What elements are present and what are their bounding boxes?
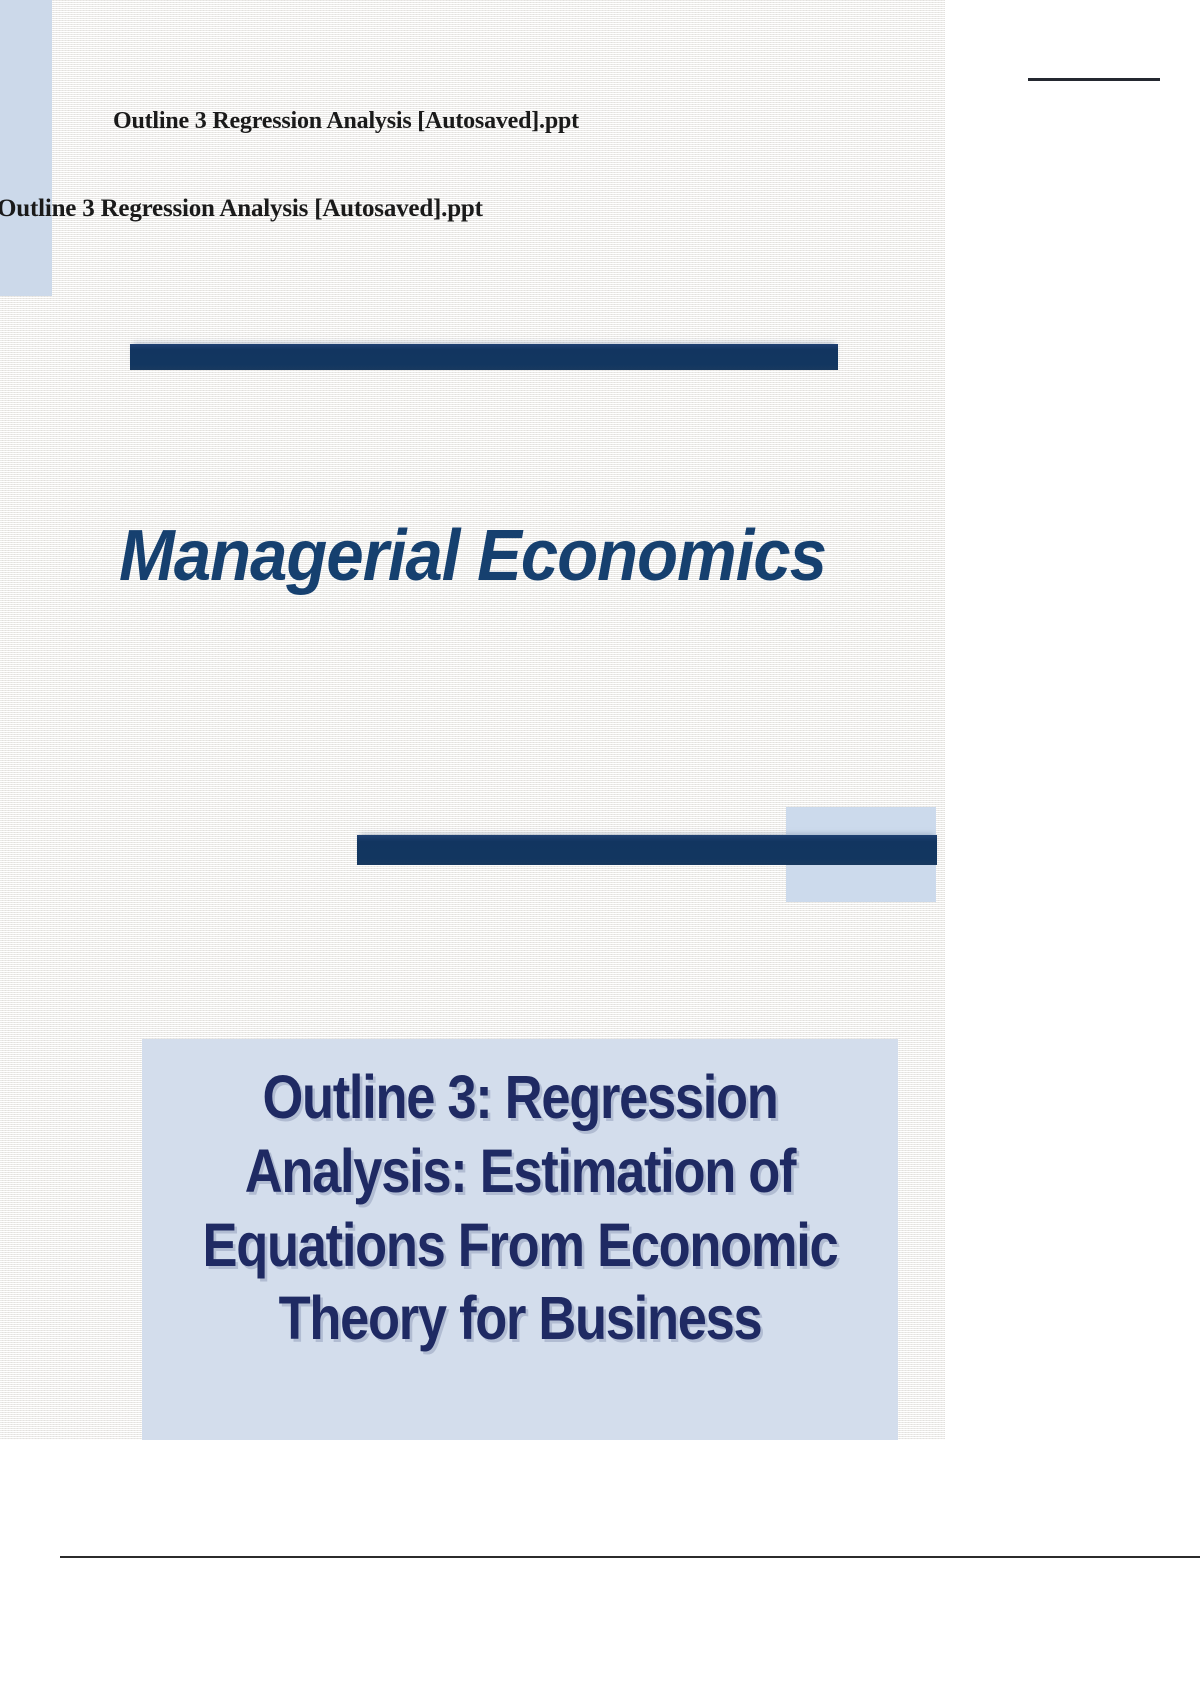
slide-subtitle-box: Outline 3: Regression Analysis: Estimati…: [142, 1039, 898, 1440]
slide-title: Managerial Economics: [33, 520, 912, 592]
left-accent-block: [0, 0, 52, 296]
header-filename-primary: Outline 3 Regression Analysis [Autosaved…: [113, 108, 579, 135]
page-right-margin: [945, 0, 1200, 1440]
navy-accent-bar-top: [130, 344, 838, 370]
navy-accent-bar-middle: [357, 835, 937, 865]
slide-subtitle-text: Outline 3: Regression Analysis: Estimati…: [195, 1061, 845, 1356]
page-bottom-margin: [0, 1440, 1200, 1700]
document-page: Outline 3 Regression Analysis [Autosaved…: [0, 0, 1200, 1700]
page-bottom-rule: [60, 1556, 1200, 1558]
top-right-rule-icon: [1028, 78, 1160, 81]
header-filename-secondary: Outline 3 Regression Analysis [Autosaved…: [0, 195, 483, 223]
